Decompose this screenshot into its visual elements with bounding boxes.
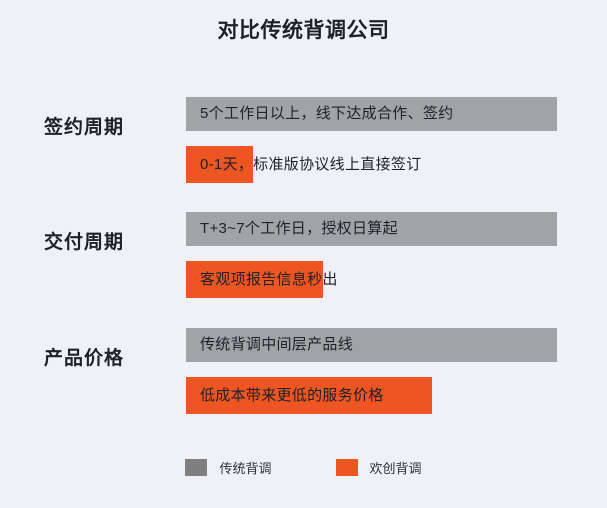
chart-row-signing-cycle: 签约周期 5个工作日以上，线下达成合作、签约 0-1天，标准版协议线上直接签订 <box>0 90 607 186</box>
legend-label-huanchuang: 欢创背调 <box>370 458 422 477</box>
category-label-delivery-cycle: 交付周期 <box>44 227 174 254</box>
bar-label-traditional-delivery-cycle: T+3~7个工作日，授权日算起 <box>200 212 398 246</box>
bar-label-traditional-signing-cycle: 5个工作日以上，线下达成合作、签约 <box>200 97 453 131</box>
comparison-bar-chart: 对比传统背调公司 签约周期 5个工作日以上，线下达成合作、签约 0-1天，标准版… <box>0 0 607 508</box>
category-label-product-price: 产品价格 <box>44 343 174 370</box>
bar-label-huanchuang-delivery-cycle: 客观项报告信息秒出 <box>200 261 338 298</box>
chart-row-delivery-cycle: 交付周期 T+3~7个工作日，授权日算起 客观项报告信息秒出 <box>0 205 607 301</box>
bar-label-huanchuang-product-price: 低成本带来更低的服务价格 <box>200 377 384 414</box>
legend-swatch-icon-huanchuang <box>336 459 358 476</box>
legend-swatch-icon-traditional <box>185 459 207 476</box>
bar-label-traditional-product-price: 传统背调中间层产品线 <box>200 328 353 362</box>
category-label-signing-cycle: 签约周期 <box>44 112 174 139</box>
bar-label-huanchuang-signing-cycle: 0-1天，标准版协议线上直接签订 <box>200 146 421 183</box>
chart-legend: 传统背调 欢创背调 <box>0 458 607 477</box>
legend-item-huanchuang: 欢创背调 <box>336 458 422 477</box>
chart-row-product-price: 产品价格 传统背调中间层产品线 低成本带来更低的服务价格 <box>0 321 607 417</box>
legend-label-traditional: 传统背调 <box>219 458 271 477</box>
legend-item-traditional: 传统背调 <box>185 458 271 477</box>
page-title: 对比传统背调公司 <box>0 14 607 44</box>
